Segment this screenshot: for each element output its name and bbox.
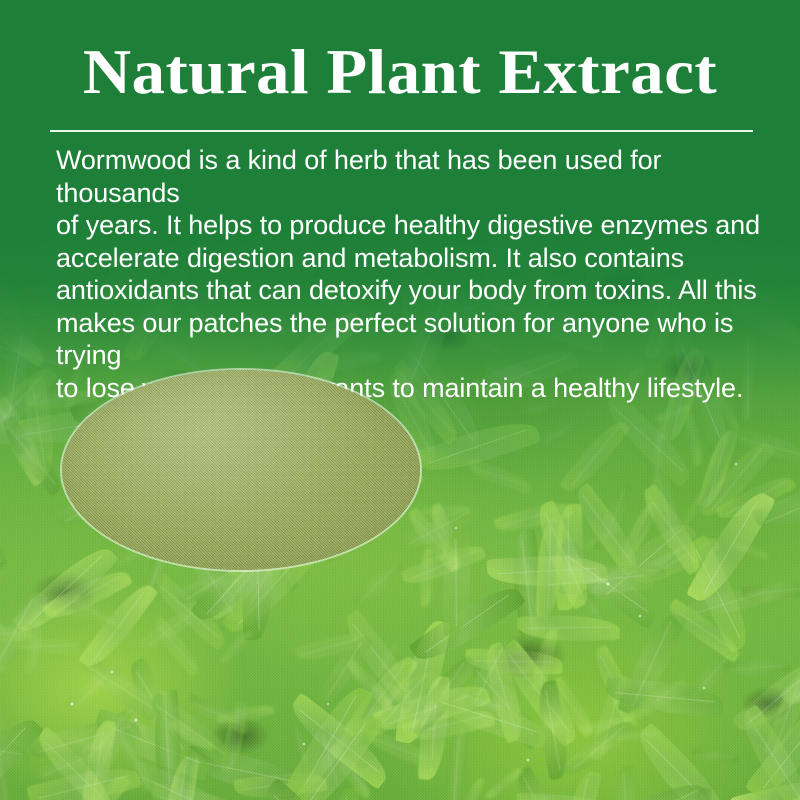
description-line: makes our patches the perfect solution f… (56, 307, 762, 372)
description-line: Wormwood is a kind of herb that has been… (56, 144, 762, 209)
powder-swatch (62, 370, 420, 570)
description-line: accelerate digestion and metabolism. It … (56, 242, 762, 275)
product-info-poster: Natural Plant Extract Wormwood is a kind… (0, 0, 800, 800)
powder-oval-fill (62, 370, 420, 570)
description-line: of years. It helps to produce healthy di… (56, 209, 762, 242)
title-divider-rule (50, 130, 753, 132)
page-title: Natural Plant Extract (0, 37, 800, 107)
powder-sheen-highlight (62, 370, 420, 570)
description-line: antioxidants that can detoxify your body… (56, 274, 762, 307)
description-paragraph: Wormwood is a kind of herb that has been… (56, 144, 762, 404)
